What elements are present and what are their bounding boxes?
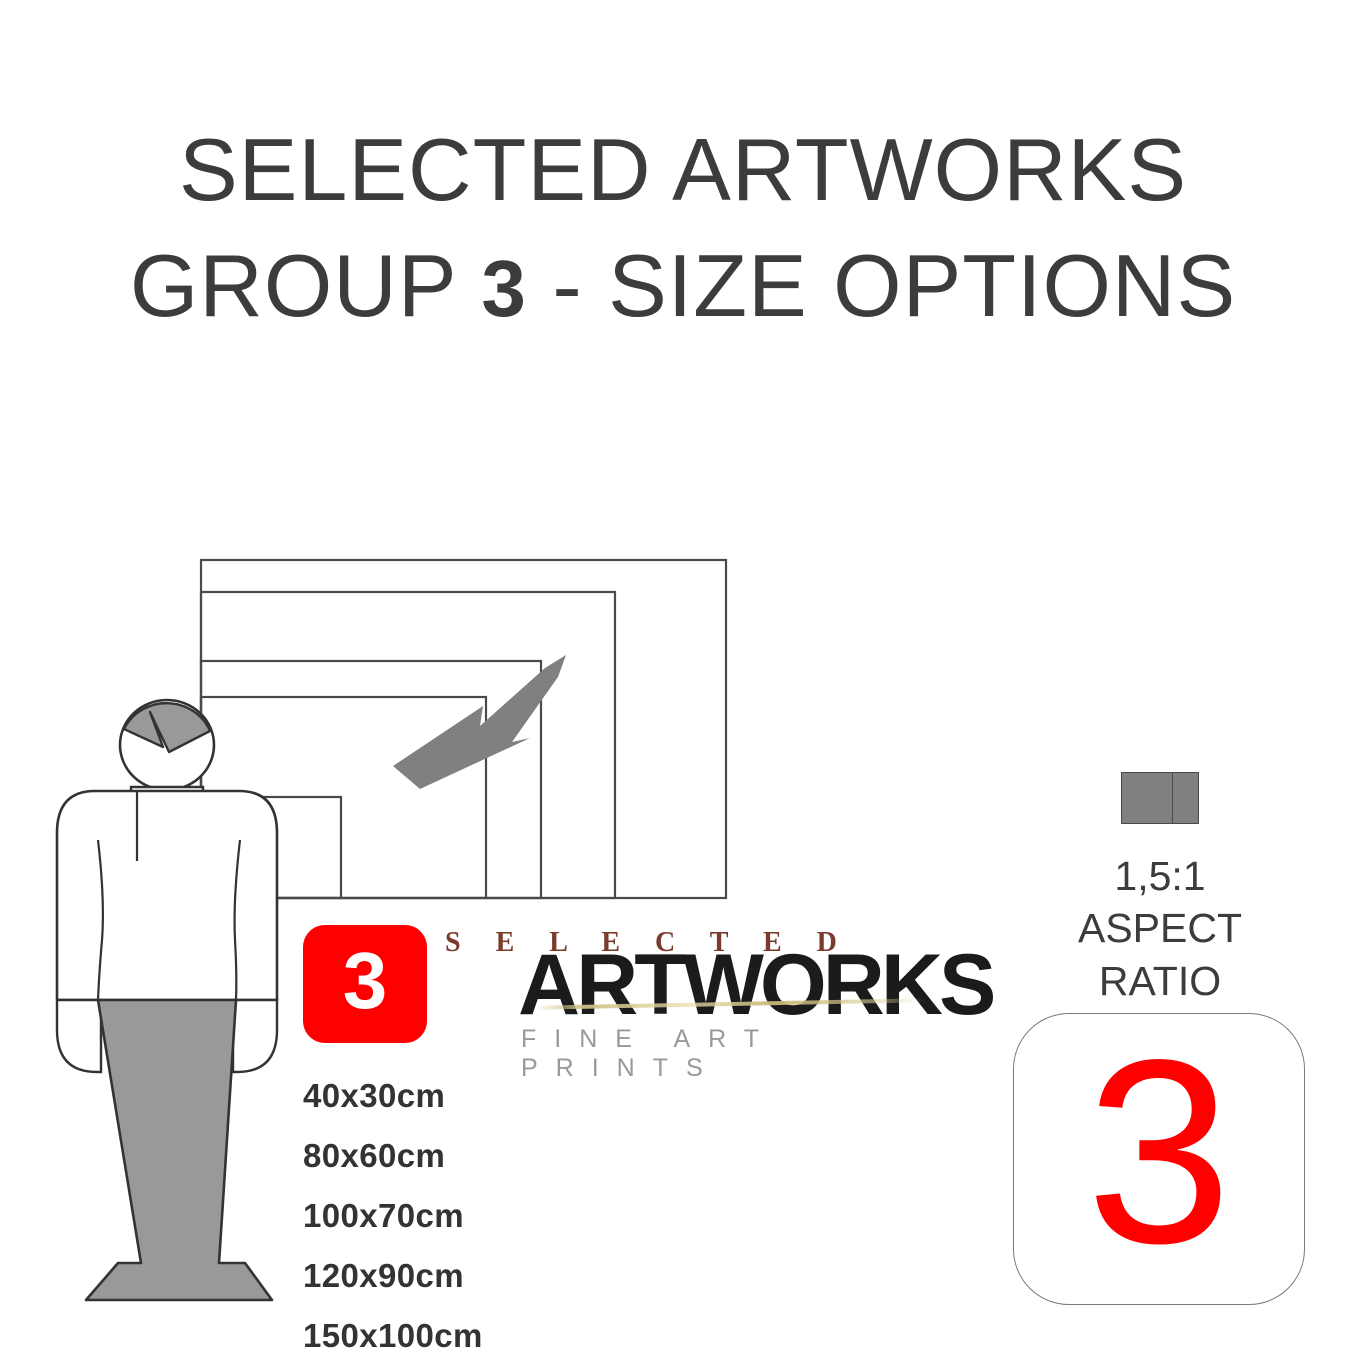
human-scale-figure (57, 700, 277, 1300)
logo-word-artworks: ARTWORKS (518, 942, 992, 1028)
group-number-card-label: 3 (1014, 1014, 1304, 1304)
figure-hand-right (233, 1000, 277, 1072)
aspect-ratio-word-ratio: RATIO (1010, 955, 1310, 1007)
logo-number-badge-label: 3 (303, 922, 427, 1040)
aspect-ratio-word-aspect: ASPECT (1010, 902, 1310, 954)
list-item[interactable]: 120x90cm (303, 1246, 723, 1306)
group-number-card[interactable]: 3 (1013, 1013, 1305, 1305)
aspect-ratio-value: 1,5:1 (1010, 850, 1310, 902)
list-item[interactable]: 80x60cm (303, 1126, 723, 1186)
aspect-ratio-icon (1121, 772, 1199, 824)
aspect-ratio-panel: 1,5:1 ASPECT RATIO (1010, 768, 1310, 1007)
list-item[interactable]: 150x100cm (303, 1306, 723, 1366)
figure-torso (57, 791, 277, 1000)
poster-canvas: SELECTED ARTWORKS GROUP 3 - SIZE OPTIONS (0, 0, 1366, 1366)
list-item[interactable]: 100x70cm (303, 1186, 723, 1246)
aspect-ratio-icon-divider (1172, 773, 1173, 823)
brand-logo[interactable]: 3 S E L E C T E D ARTWORKS FINE ART PRIN… (303, 922, 953, 1057)
aspect-ratio-text: 1,5:1 ASPECT RATIO (1010, 850, 1310, 1007)
list-item[interactable]: 40x30cm (303, 1066, 723, 1126)
figure-hand-left (57, 1000, 101, 1072)
size-options-list: 40x30cm 80x60cm 100x70cm 120x90cm 150x10… (303, 1066, 723, 1366)
